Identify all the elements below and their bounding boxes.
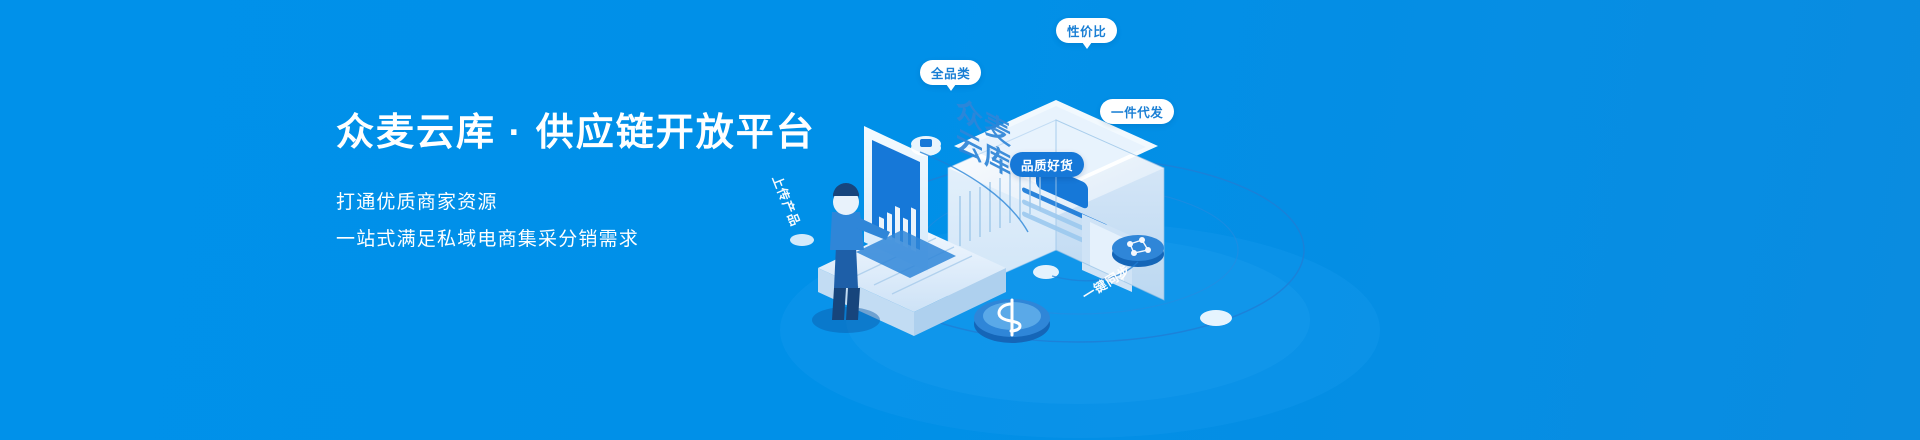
display-screen: [856, 126, 956, 278]
floating-node-right: [1200, 310, 1232, 326]
tag-quanpinlei: 全品类: [920, 60, 981, 85]
tag-pinzhihaohuo: 品质好货: [1010, 152, 1084, 177]
tag-xingjiabi: 性价比: [1056, 18, 1117, 43]
floating-node-top: [911, 136, 941, 156]
isometric-scene: [760, 0, 1400, 440]
hero-banner: 众麦云库 · 供应链开放平台 打通优质商家资源 一站式满足私域电商集采分销需求: [0, 0, 1920, 440]
floating-node-left: [790, 234, 814, 246]
supply-chain-illustration: 众麦云库 性价比 全品类 一件代发 品质好货 上传产品 一键同步: [760, 0, 1400, 440]
tag-yijiandaifa: 一件代发: [1100, 99, 1174, 124]
coin-badge: [974, 299, 1050, 343]
